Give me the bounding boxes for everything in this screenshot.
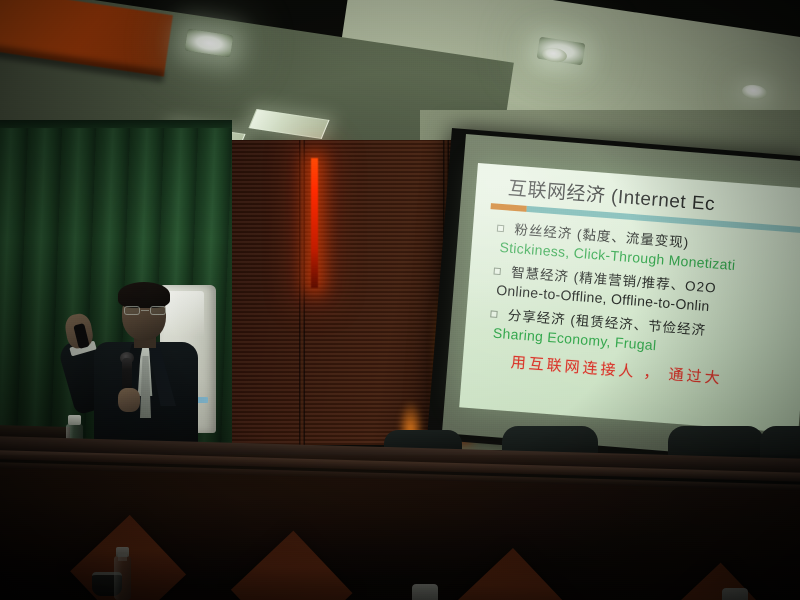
eyeglass-bridge — [141, 310, 149, 311]
wood-seam-mid — [299, 140, 305, 445]
bottle-neck — [118, 554, 127, 561]
diamond-panel-2 — [231, 531, 353, 600]
diamond-panel-4 — [658, 563, 780, 600]
presenter — [60, 280, 245, 455]
bullet-square-icon — [490, 310, 498, 318]
water-bottle-front-2 — [412, 584, 438, 600]
slide-bullet-list: 粉丝经济 (黏度、流量变现) Stickiness, Click-Through… — [488, 217, 800, 365]
bottle-cap — [68, 415, 81, 425]
eyeglass-lens-right — [150, 306, 166, 315]
water-bottle-front-1 — [114, 556, 131, 600]
diamond-panel-3 — [448, 548, 575, 600]
chair-4 — [760, 426, 800, 460]
water-bottle-front-3 — [722, 588, 748, 600]
lecture-hall-photo: 互联网经济 (Internet Ec 粉丝经济 (黏度、流量变现) Sticki… — [0, 0, 800, 600]
bullet-square-icon — [493, 268, 501, 276]
eyeglass-lens-left — [124, 306, 140, 315]
red-led-strip-vertical — [311, 158, 318, 288]
eyeglasses-icon — [124, 306, 166, 315]
bullet-square-icon — [497, 225, 505, 233]
presenter-mic-hand — [118, 388, 140, 412]
accent-segment-orange — [491, 203, 527, 212]
projected-slide: 互联网经济 (Internet Ec 粉丝经济 (黏度、流量变现) Sticki… — [459, 163, 800, 433]
presenter-hair — [118, 282, 170, 308]
